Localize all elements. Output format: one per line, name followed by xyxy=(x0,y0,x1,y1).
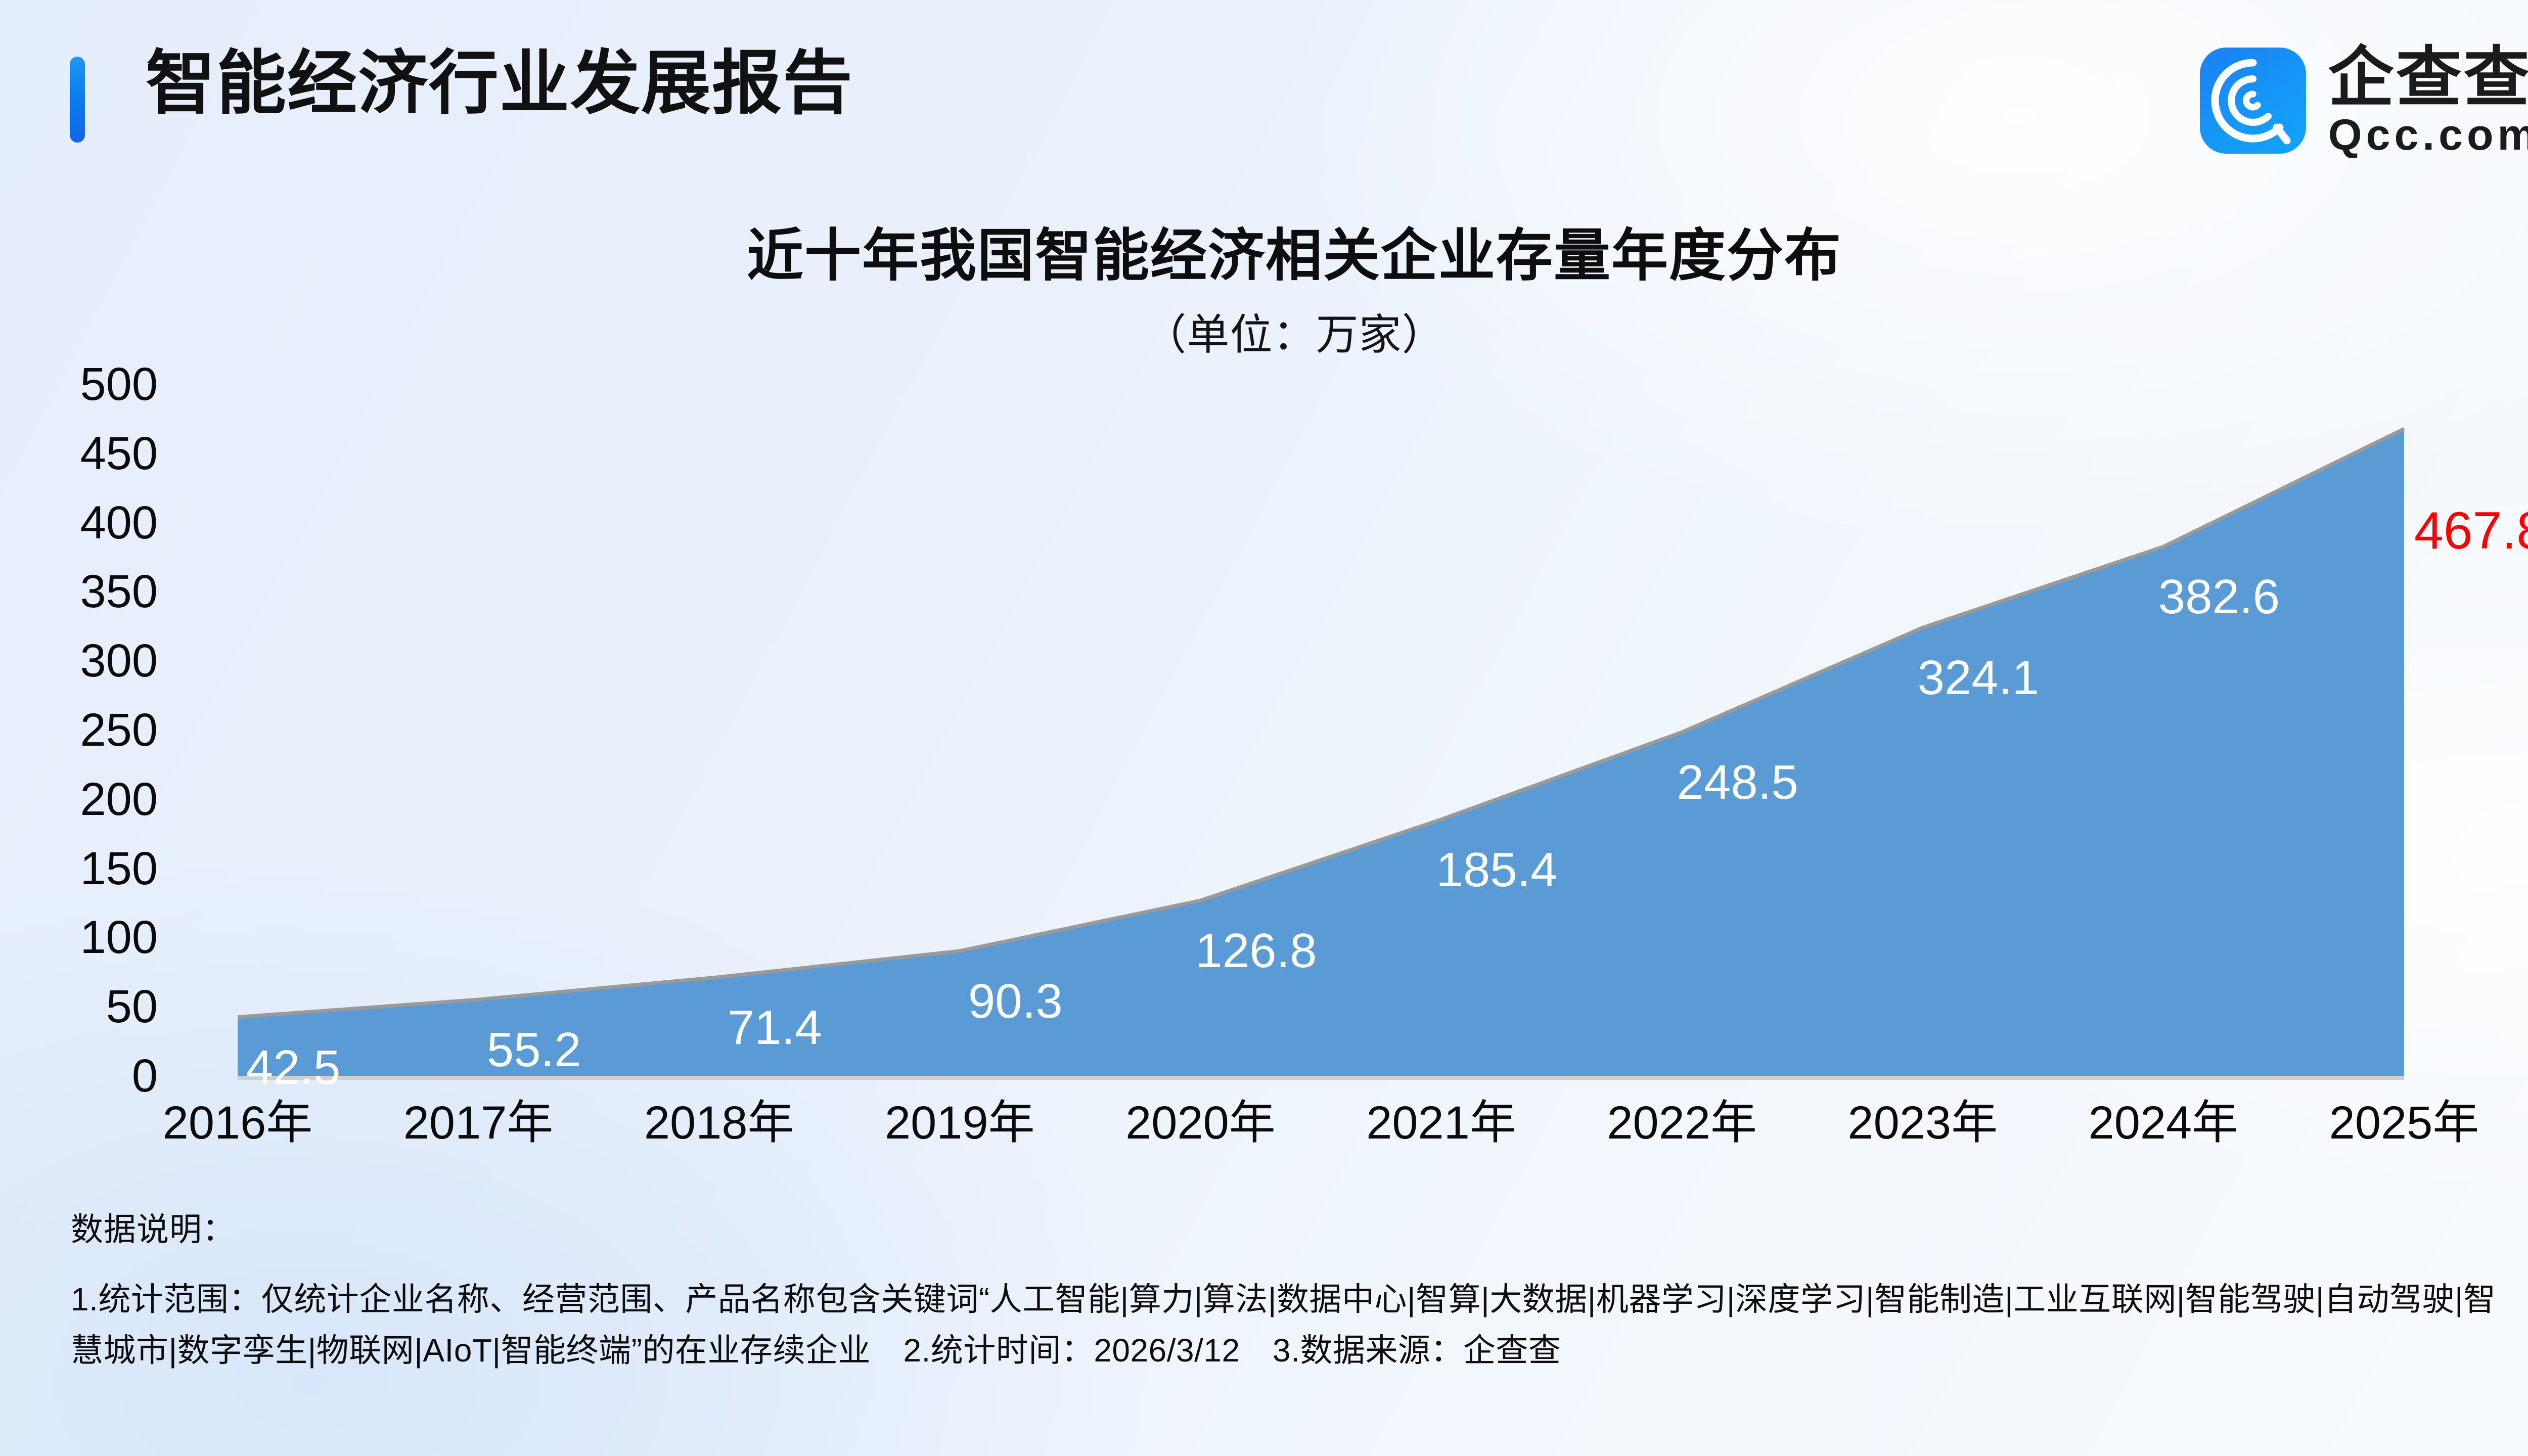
x-axis-tick: 2017年 xyxy=(362,1100,595,1146)
y-axis-tick: 200 xyxy=(6,776,158,823)
x-axis-tick: 2018年 xyxy=(603,1100,835,1146)
y-axis-tick: 300 xyxy=(6,638,158,684)
y-axis-tick: 400 xyxy=(6,499,158,546)
data-label: 324.1 xyxy=(1862,654,2095,702)
x-axis-tick: 2021年 xyxy=(1325,1100,1558,1146)
y-axis-tick: 100 xyxy=(6,914,158,961)
data-label: 382.6 xyxy=(2103,573,2335,621)
x-axis-tick: 2019年 xyxy=(843,1100,1076,1146)
notes-heading: 数据说明： xyxy=(71,1213,2528,1246)
y-axis-tick: 250 xyxy=(6,707,158,753)
chart-page: 智能经济行业发展报告 企查查 Qcc.com 近十年我国智能经济相关企业存量年度… xyxy=(0,0,2528,1456)
y-axis-tick: 450 xyxy=(6,430,158,477)
y-axis-tick: 150 xyxy=(6,845,158,892)
y-axis-tick: 50 xyxy=(6,983,158,1030)
area-series-shape xyxy=(238,429,2404,1076)
y-axis-tick: 0 xyxy=(6,1053,158,1099)
data-label: 71.4 xyxy=(658,1004,891,1052)
x-axis-tick: 2022年 xyxy=(1566,1100,1798,1146)
data-label: 90.3 xyxy=(899,977,1132,1026)
data-label: 55.2 xyxy=(418,1026,650,1074)
x-axis-tick: 2024年 xyxy=(2047,1100,2280,1146)
x-axis-tick: 2016年 xyxy=(121,1100,354,1146)
data-label: 126.8 xyxy=(1140,927,1372,975)
data-notes: 数据说明： 1.统计范围：仅统计企业名称、经营范围、产品名称包含关键词“人工智能… xyxy=(71,1213,2528,1376)
data-label-highlight: 467.8 xyxy=(2364,505,2528,557)
y-axis-tick: 500 xyxy=(6,361,158,407)
notes-body: 1.统计范围：仅统计企业名称、经营范围、产品名称包含关键词“人工智能|算力|算法… xyxy=(71,1274,2498,1376)
y-axis-tick: 350 xyxy=(6,568,158,615)
x-axis-tick: 2020年 xyxy=(1084,1100,1317,1146)
x-axis-tick: 2025年 xyxy=(2288,1100,2520,1146)
data-label: 248.5 xyxy=(1621,758,1854,807)
data-label: 185.4 xyxy=(1381,846,1613,894)
data-label: 42.5 xyxy=(177,1043,410,1092)
x-axis-tick: 2023年 xyxy=(1807,1100,2039,1146)
